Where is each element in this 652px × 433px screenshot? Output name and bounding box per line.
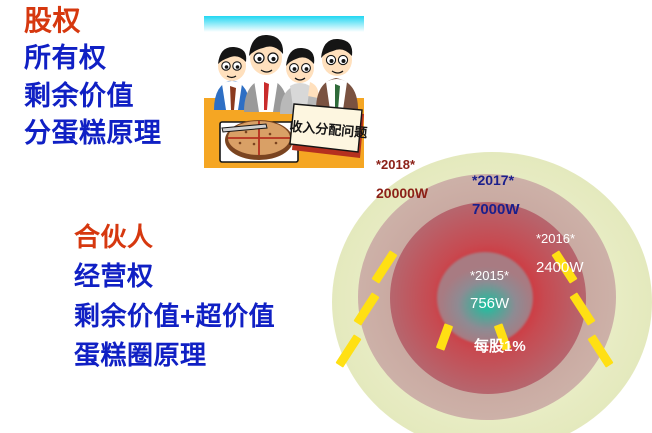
sign-board: 收入分配问题 xyxy=(289,104,369,158)
ring-label-2017: *2017* 7000W xyxy=(472,172,520,218)
equity-line-4: 分蛋糕原理 xyxy=(24,119,162,147)
slide-canvas: 股权 所有权 剩余价值 分蛋糕原理 合伙人 经营权 剩余价值+超价值 蛋糕圈原理 xyxy=(0,0,652,433)
partner-line-4: 蛋糕圈原理 xyxy=(74,342,275,369)
ring-value-2016: 2400W xyxy=(536,259,584,276)
ring-label-2018: *2018* 20000W xyxy=(376,158,428,201)
cartoon-svg: 收入分配问题 xyxy=(192,10,376,186)
equity-line-3: 剩余价值 xyxy=(24,82,162,110)
ring-year-2017: *2017* xyxy=(472,172,520,188)
equity-text-group: 股权 所有权 剩余价值 分蛋糕原理 xyxy=(24,6,162,156)
cyan-band xyxy=(204,16,364,32)
equity-line-2: 所有权 xyxy=(24,44,162,72)
partner-line-1: 合伙人 xyxy=(74,224,275,251)
partner-text-group: 合伙人 经营权 剩余价值+超价值 蛋糕圈原理 xyxy=(74,224,275,381)
cake-on-tray xyxy=(220,120,298,162)
partner-line-2: 经营权 xyxy=(74,263,275,290)
ring-year-2018: *2018* xyxy=(376,158,428,173)
ring-year-2015: *2015* xyxy=(470,269,509,284)
cake-sharing-cartoon: 收入分配问题 xyxy=(192,10,376,186)
ring-value-2015: 756W xyxy=(470,295,509,312)
partner-line-3: 剩余价值+超价值 xyxy=(74,303,275,330)
ring-year-2016: *2016* xyxy=(536,232,584,247)
ring-value-2018: 20000W xyxy=(376,185,428,201)
share-per-unit-label: 每股1% xyxy=(474,338,526,355)
concentric-rings-chart: *2018* 20000W *2017* 7000W *2016* 2400W … xyxy=(332,152,652,433)
ring-label-2016: *2016* 2400W xyxy=(536,232,584,276)
ring-value-2017: 7000W xyxy=(472,201,520,218)
equity-line-1: 股权 xyxy=(24,6,162,35)
ring-label-2015: *2015* 756W xyxy=(470,269,509,312)
